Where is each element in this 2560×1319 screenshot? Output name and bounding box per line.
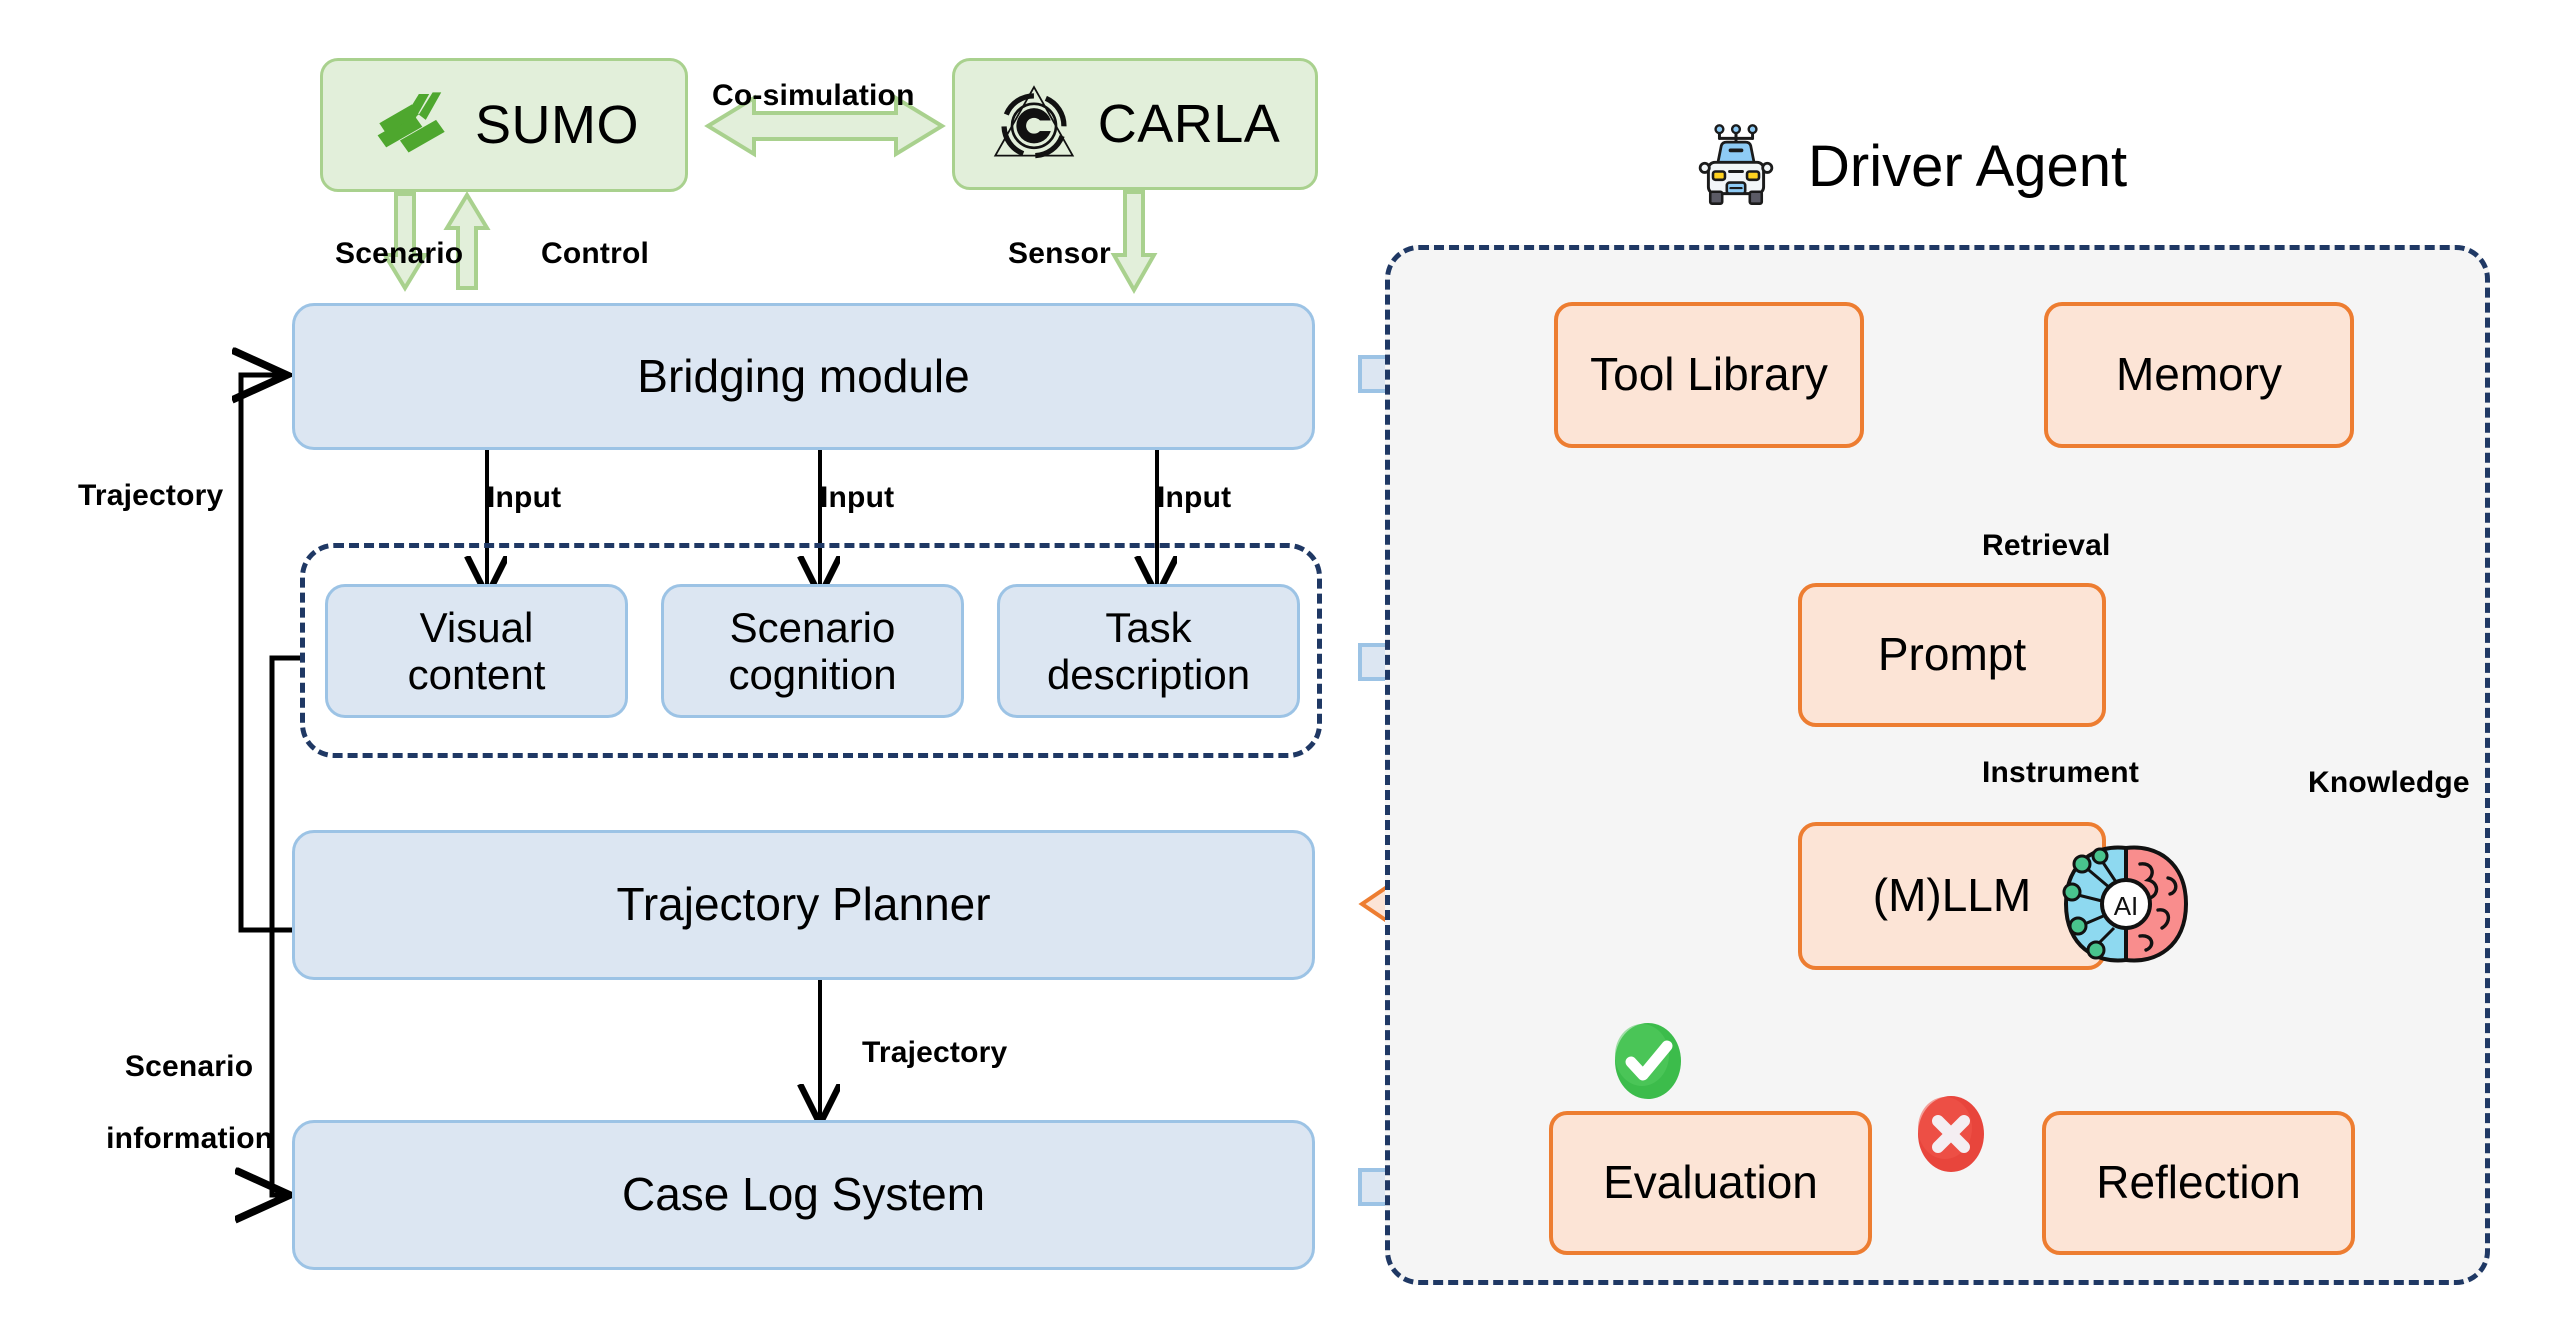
scenario-label: Scenario (335, 236, 463, 272)
visual-content-box[interactable]: Visual content (325, 584, 628, 718)
diagram-canvas: SUMO CARLA Co-simulation Scenario Contro… (0, 0, 2560, 1319)
prompt-box[interactable]: Prompt (1798, 583, 2106, 727)
scenario-info-line2: information (106, 1122, 273, 1155)
input-label-3: Input (1157, 480, 1231, 516)
case-log-system-label: Case Log System (622, 1169, 985, 1221)
sumo-logo-icon (369, 82, 455, 168)
carla-logo-icon (990, 80, 1078, 168)
trajectory-down-label: Trajectory (862, 1035, 1007, 1071)
input-label-1: Input (487, 480, 561, 516)
scenario-cognition-box[interactable]: Scenario cognition (661, 584, 964, 718)
green-check-icon (1609, 1022, 1687, 1100)
retrieval-label: Retrieval (1982, 528, 2111, 564)
memory-box[interactable]: Memory (2044, 302, 2354, 448)
red-cross-icon (1912, 1095, 1990, 1173)
scenario-cognition-line2: cognition (728, 651, 896, 698)
prompt-label: Prompt (1878, 629, 2026, 681)
bridging-module-box[interactable]: Bridging module (292, 303, 1315, 450)
tool-library-label: Tool Library (1590, 349, 1828, 401)
driver-agent-label: Driver Agent (1808, 133, 2127, 200)
visual-content-line1: Visual (420, 604, 534, 651)
scenario-information-left-label: Scenario information (72, 1013, 272, 1193)
task-description-line2: description (1047, 651, 1250, 698)
carla-label: CARLA (1098, 94, 1281, 154)
tool-library-box[interactable]: Tool Library (1554, 302, 1864, 448)
reflection-box[interactable]: Reflection (2042, 1111, 2355, 1255)
evaluation-box[interactable]: Evaluation (1549, 1111, 1872, 1255)
ai-brain-badge-text: AI (2114, 891, 2139, 921)
reflection-label: Reflection (2096, 1157, 2301, 1209)
ai-brain-icon: AI (2060, 842, 2192, 966)
control-label: Control (541, 236, 649, 272)
sumo-box[interactable]: SUMO (320, 58, 688, 192)
mllm-label: (M)LLM (1873, 870, 2031, 922)
trajectory-planner-label: Trajectory Planner (616, 879, 990, 931)
knowledge-label: Knowledge (2308, 765, 2470, 801)
self-driving-car-icon (1690, 120, 1782, 212)
scenario-info-line1: Scenario (125, 1050, 253, 1083)
trajectory-feedback-label: Trajectory (78, 478, 223, 514)
evaluation-label: Evaluation (1603, 1157, 1818, 1209)
driver-agent-title: Driver Agent (1690, 120, 2127, 212)
cosimulation-label: Co-simulation (712, 78, 915, 114)
case-log-system-box[interactable]: Case Log System (292, 1120, 1315, 1270)
task-description-line1: Task (1105, 604, 1191, 651)
scenario-cognition-line1: Scenario (730, 604, 896, 651)
task-description-box[interactable]: Task description (997, 584, 1300, 718)
instrument-label: Instrument (1982, 755, 2139, 791)
sensor-arrow (1114, 192, 1154, 290)
trajectory-feedback-wire (241, 375, 292, 930)
carla-box[interactable]: CARLA (952, 58, 1318, 190)
sumo-label: SUMO (475, 95, 639, 155)
bridging-module-label: Bridging module (637, 351, 969, 403)
input-label-2: Input (820, 480, 894, 516)
memory-label: Memory (2116, 349, 2282, 401)
sensor-label: Sensor (1008, 236, 1111, 272)
trajectory-planner-box[interactable]: Trajectory Planner (292, 830, 1315, 980)
visual-content-line2: content (408, 651, 546, 698)
